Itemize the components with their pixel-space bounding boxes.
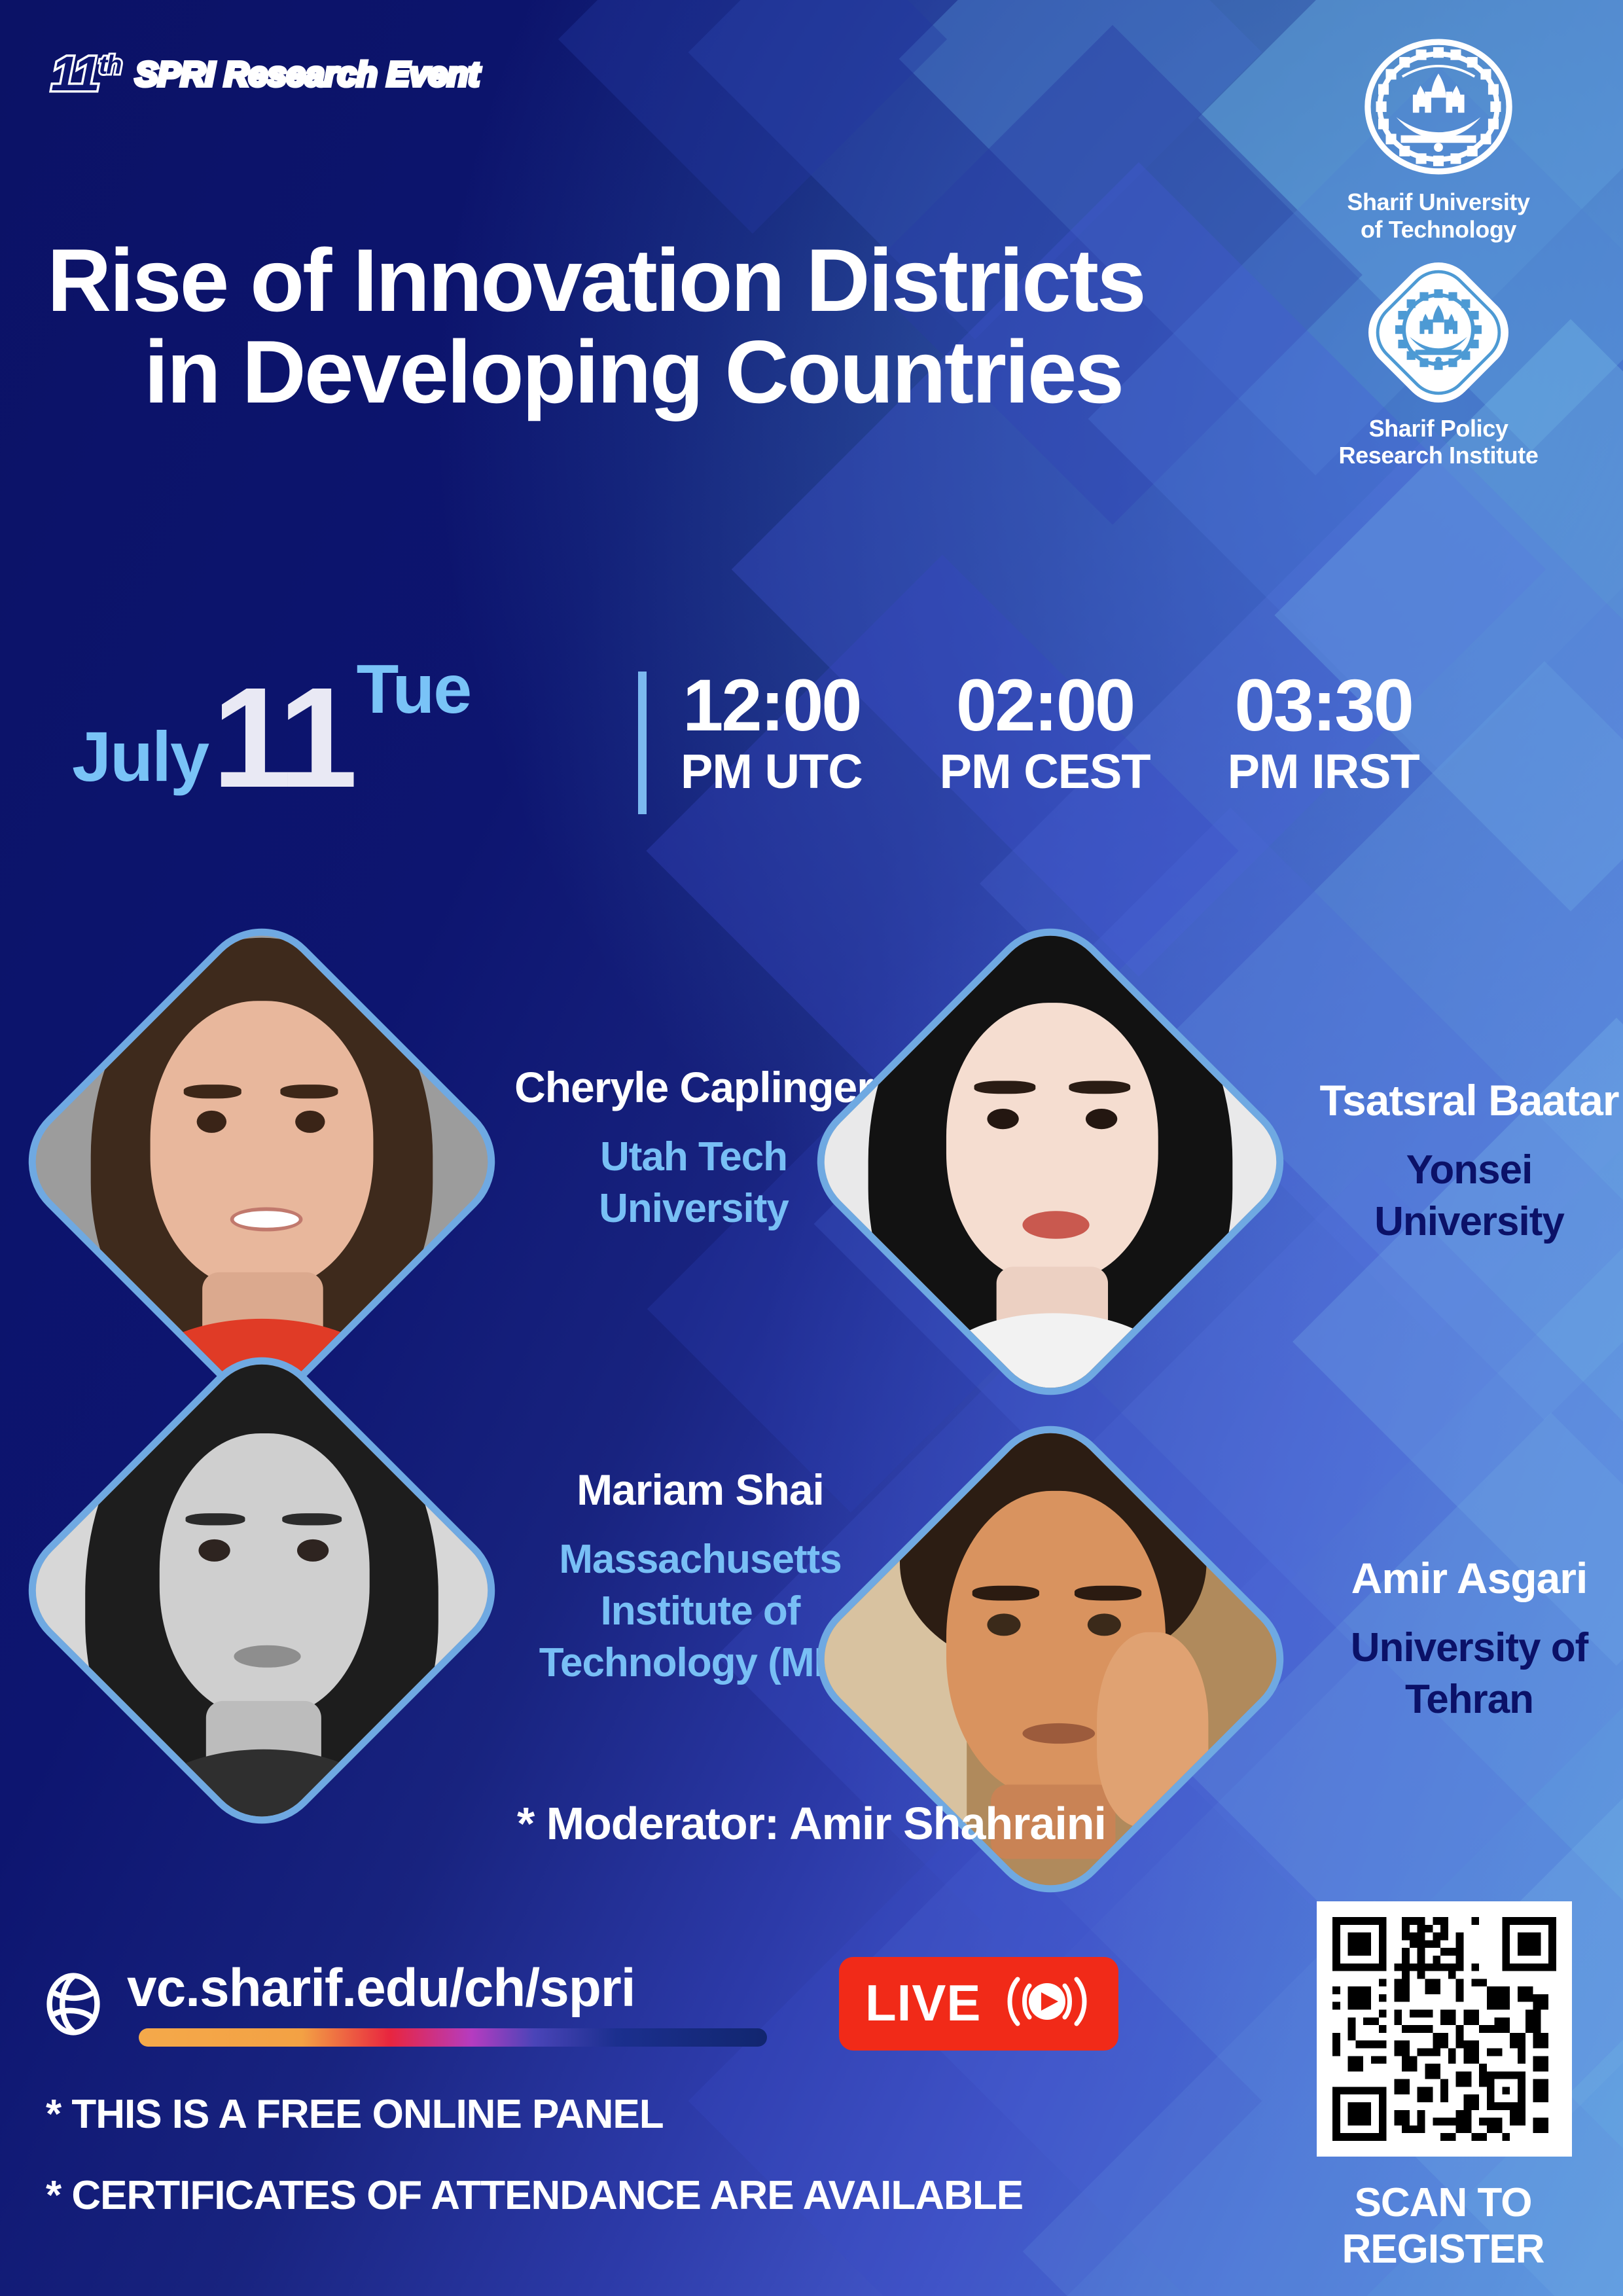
speaker-name: Amir Asgari (1286, 1554, 1623, 1602)
event-weekday: Tue (357, 655, 471, 724)
speaker-photo-frame (3, 1331, 521, 1850)
url-gradient-bar (139, 2028, 767, 2047)
institution-logos: Sharif University of Technology (1301, 31, 1576, 469)
speaker-name: Cheryle Caplinger (497, 1064, 890, 1111)
avatar (791, 912, 1310, 1421)
event-date: July 11 Tue (72, 655, 471, 797)
event-series-label: SPRI Research Event (135, 55, 480, 94)
speaker-photo-frame (791, 903, 1310, 1421)
stream-url[interactable]: vc.sharif.edu/ch/spri (127, 1962, 767, 2015)
sharif-policy-research-institute-seal-icon (1301, 260, 1576, 404)
event-poster: 11th SPRI Research Event (0, 0, 1623, 2296)
note-free-panel: * THIS IS A FREE ONLINE PANEL (46, 2094, 1023, 2135)
event-series-badge: 11th SPRI Research Event (51, 51, 480, 97)
speaker-affiliation: University of Tehran (1286, 1622, 1623, 1726)
moderator-line: * Moderator: Amir Shahraini (0, 1797, 1623, 1850)
qr-caption: SCAN TO REGISTER (1302, 2179, 1584, 2272)
title-line-2: in Developing Countries (144, 326, 1330, 418)
title-line-1: Rise of Innovation Districts (47, 230, 1145, 330)
qr-code-icon[interactable] (1317, 1901, 1572, 2157)
speaker-card-4: Amir Asgari University of Tehran (867, 1476, 1234, 1842)
speaker-card-1: Cheryle Caplinger Utah Tech University (79, 978, 445, 1345)
broadcast-play-icon (998, 1969, 1096, 2037)
divider (638, 672, 647, 814)
globe-icon (46, 1973, 101, 2036)
stream-link-row: vc.sharif.edu/ch/spri LIVE (46, 1957, 1118, 2051)
stream-url-block[interactable]: vc.sharif.edu/ch/spri (127, 1962, 767, 2047)
sharif-policy-research-institute-label: Sharif Policy Research Institute (1301, 415, 1576, 470)
sharif-university-seal-icon (1301, 31, 1576, 182)
timezone-list: 12:00 PM UTC 02:00 PM CEST 03:30 PM IRST (681, 669, 1419, 797)
timezone-cest: 02:00 PM CEST (940, 669, 1150, 797)
speaker-name: Tsatsral Baatar (1286, 1077, 1623, 1124)
speaker-info: Tsatsral Baatar Yonsei University (1286, 1077, 1623, 1247)
speaker-name: Mariam Shai (497, 1466, 903, 1514)
event-month: July (72, 721, 208, 792)
timezone-irst: 03:30 PM IRST (1228, 669, 1419, 797)
live-badge[interactable]: LIVE (839, 1957, 1118, 2051)
speaker-card-2: Tsatsral Baatar Yonsei University (867, 978, 1234, 1345)
poster-title: Rise of Innovation Districts in Developi… (47, 234, 1330, 418)
speaker-info: Amir Asgari University of Tehran (1286, 1554, 1623, 1725)
date-time-strip: July 11 Tue 12:00 PM UTC 02:00 PM CEST 0… (0, 655, 1623, 844)
live-label: LIVE (865, 1979, 981, 2027)
sharif-university-label: Sharif University of Technology (1301, 188, 1576, 243)
note-certificates: * CERTIFICATES OF ATTENDANCE ARE AVAILAB… (46, 2176, 1023, 2216)
avatar (3, 1340, 521, 1850)
event-ordinal: 11th (51, 51, 121, 97)
speaker-affiliation: Yonsei University (1286, 1144, 1623, 1248)
event-day: 11 (212, 680, 352, 797)
timezone-utc: 12:00 PM UTC (681, 669, 863, 797)
speaker-card-3: Mariam Shai Massachusetts Institute of T… (79, 1407, 445, 1774)
footer-notes: * THIS IS A FREE ONLINE PANEL * CERTIFIC… (46, 2094, 1023, 2216)
